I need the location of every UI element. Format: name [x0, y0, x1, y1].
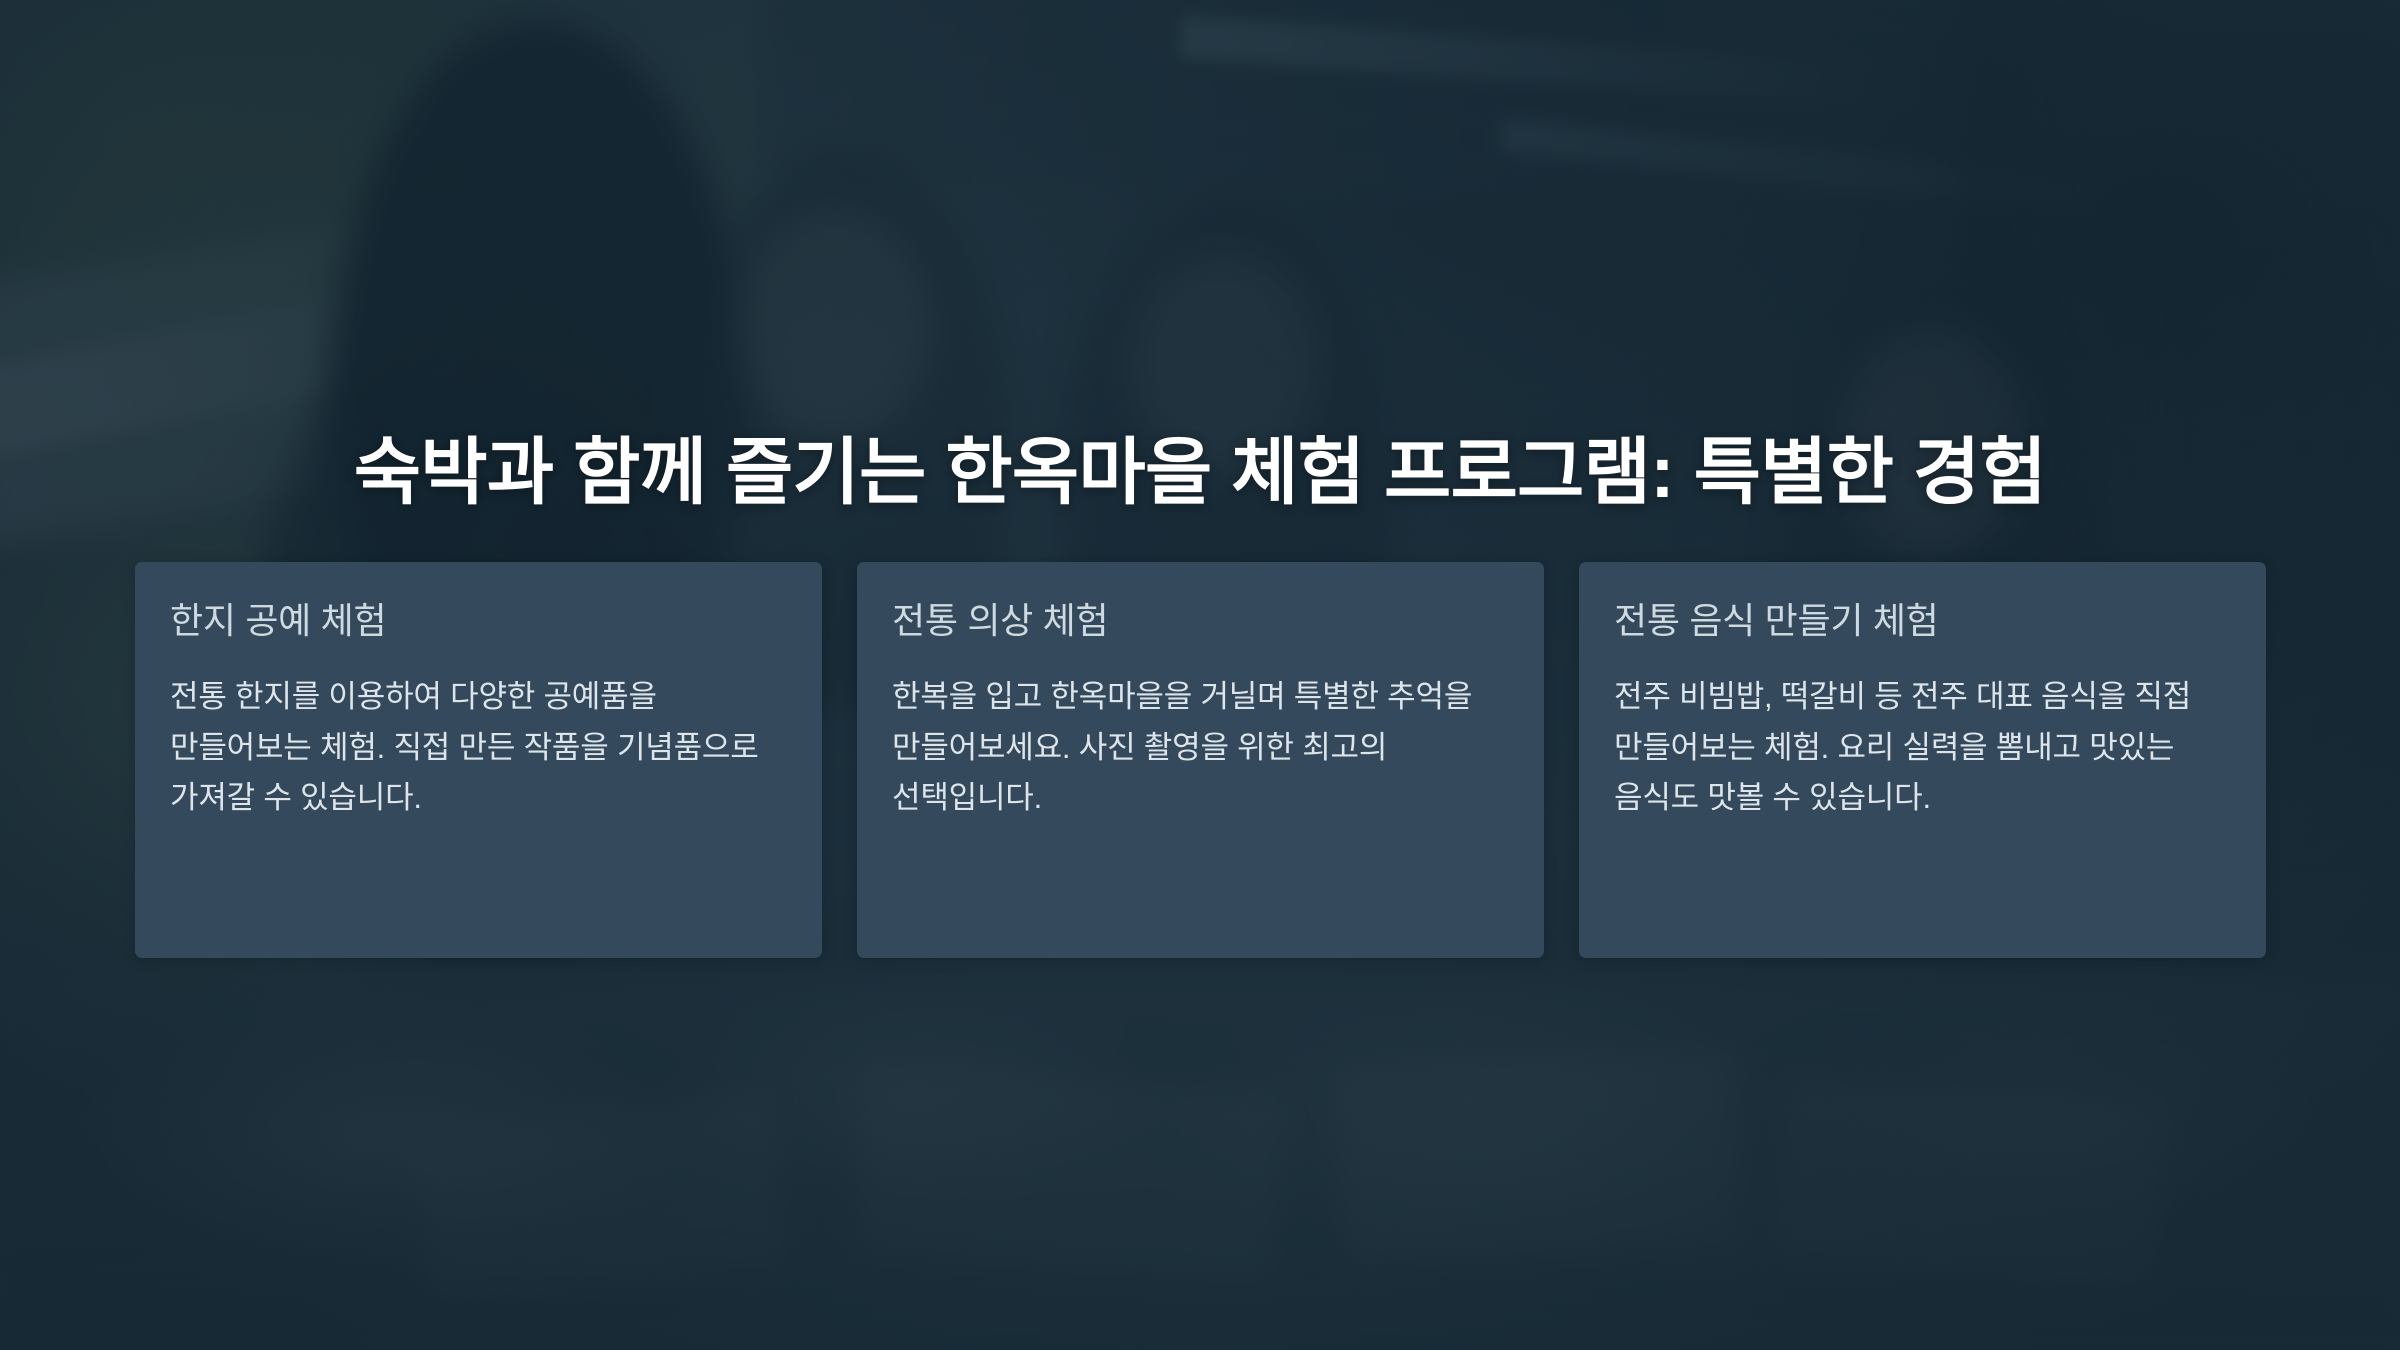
card-title: 전통 의상 체험: [892, 599, 1509, 642]
card-description: 한복을 입고 한옥마을을 거닐며 특별한 추억을 만들어보세요. 사진 촬영을 …: [892, 672, 1509, 824]
experience-card-traditional-costume[interactable]: 전통 의상 체험 한복을 입고 한옥마을을 거닐며 특별한 추억을 만들어보세요…: [857, 562, 1544, 958]
hero-section: 숙박과 함께 즐기는 한옥마을 체험 프로그램: 특별한 경험 한지 공예 체험…: [0, 0, 2400, 1350]
experience-card-hanji-craft[interactable]: 한지 공예 체험 전통 한지를 이용하여 다양한 공예품을 만들어보는 체험. …: [135, 562, 822, 958]
card-description: 전주 비빔밥, 떡갈비 등 전주 대표 음식을 직접 만들어보는 체험. 요리 …: [1614, 672, 2231, 824]
hero-content: 숙박과 함께 즐기는 한옥마을 체험 프로그램: 특별한 경험 한지 공예 체험…: [0, 0, 2400, 1350]
card-title: 전통 음식 만들기 체험: [1614, 599, 2231, 642]
card-description: 전통 한지를 이용하여 다양한 공예품을 만들어보는 체험. 직접 만든 작품을…: [170, 672, 787, 824]
page-title: 숙박과 함께 즐기는 한옥마을 체험 프로그램: 특별한 경험: [0, 431, 2400, 516]
card-title: 한지 공예 체험: [170, 599, 787, 642]
experience-card-traditional-food[interactable]: 전통 음식 만들기 체험 전주 비빔밥, 떡갈비 등 전주 대표 음식을 직접 …: [1579, 562, 2266, 958]
experience-card-list: 한지 공예 체험 전통 한지를 이용하여 다양한 공예품을 만들어보는 체험. …: [135, 562, 2266, 958]
